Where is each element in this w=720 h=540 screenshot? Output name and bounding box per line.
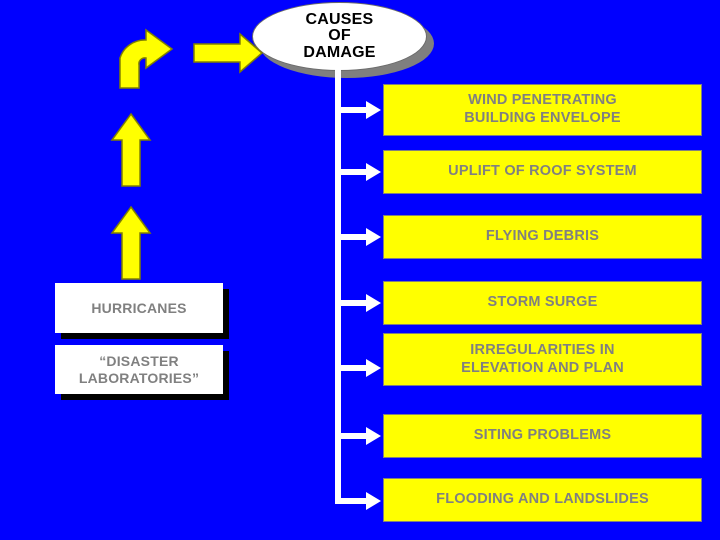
source-label-line2: LABORATORIES”: [79, 370, 199, 387]
connector-branch-5: [335, 365, 367, 371]
cause-box-label: FLOODING AND LANDSLIDES: [436, 491, 649, 509]
cause-label-line2: BUILDING ENVELOPE: [464, 110, 620, 128]
arrowhead-right-icon-4: [366, 294, 381, 312]
cause-label-line2: ELEVATION AND PLAN: [461, 360, 624, 378]
center-node-label-line3: DAMAGE: [303, 45, 375, 61]
connector-branch-3: [335, 234, 367, 240]
cause-label-line1: IRREGULARITIES IN: [461, 342, 624, 360]
connector-branch-1: [335, 107, 367, 113]
connector-branch-6: [335, 433, 367, 439]
cause-box-irregularities-in-elevation-and-plan[interactable]: IRREGULARITIES IN ELEVATION AND PLAN: [383, 333, 702, 386]
arrow-up-upper-icon: [110, 112, 152, 188]
cause-box-label: FLYING DEBRIS: [486, 228, 599, 246]
cause-label-line1: WIND PENETRATING: [464, 92, 620, 110]
cause-label-line1: UPLIFT OF ROOF SYSTEM: [448, 163, 637, 181]
cause-box-uplift-of-roof-system[interactable]: UPLIFT OF ROOF SYSTEM: [383, 150, 702, 194]
cause-box-flying-debris[interactable]: FLYING DEBRIS: [383, 215, 702, 259]
arrowhead-right-icon-1: [366, 101, 381, 119]
arrow-right-to-oval-icon: [192, 32, 264, 74]
source-label-line1: HURRICANES: [91, 300, 186, 317]
center-node-label-line2: OF: [303, 28, 375, 44]
connector-branch-4: [335, 300, 367, 306]
arrowhead-right-icon-3: [366, 228, 381, 246]
cause-box-label: WIND PENETRATING BUILDING ENVELOPE: [464, 92, 620, 127]
cause-box-label: SITING PROBLEMS: [474, 427, 612, 445]
diagram-canvas: CAUSES OF DAMAGE WIND PENETRATING BUILDI…: [0, 0, 720, 540]
source-box-disaster-laboratories[interactable]: “DISASTER LABORATORIES”: [55, 345, 223, 394]
center-node-label: CAUSES OF DAMAGE: [303, 12, 375, 61]
arrowhead-right-icon-2: [366, 163, 381, 181]
source-box-surface: HURRICANES: [55, 283, 223, 333]
arrowhead-right-icon-7: [366, 492, 381, 510]
center-node-label-line1: CAUSES: [303, 12, 375, 28]
cause-box-siting-problems[interactable]: SITING PROBLEMS: [383, 414, 702, 458]
center-node-causes-of-damage[interactable]: CAUSES OF DAMAGE: [252, 2, 434, 78]
cause-box-label: IRREGULARITIES IN ELEVATION AND PLAN: [461, 342, 624, 377]
connector-branch-7: [335, 498, 367, 504]
cause-box-flooding-and-landslides[interactable]: FLOODING AND LANDSLIDES: [383, 478, 702, 522]
source-box-surface: “DISASTER LABORATORIES”: [55, 345, 223, 394]
arrow-up-lower-icon: [110, 205, 152, 281]
cause-label-line1: SITING PROBLEMS: [474, 427, 612, 445]
cause-box-label: UPLIFT OF ROOF SYSTEM: [448, 163, 637, 181]
oval-shape: CAUSES OF DAMAGE: [252, 2, 427, 71]
arrow-elbow-up-right-icon: [108, 28, 178, 90]
cause-box-storm-surge[interactable]: STORM SURGE: [383, 281, 702, 325]
cause-box-wind-penetrating-building-envelope[interactable]: WIND PENETRATING BUILDING ENVELOPE: [383, 84, 702, 136]
cause-box-label: STORM SURGE: [488, 294, 598, 312]
arrowhead-right-icon-5: [366, 359, 381, 377]
source-box-hurricanes[interactable]: HURRICANES: [55, 283, 223, 333]
connector-branch-2: [335, 169, 367, 175]
cause-label-line1: FLOODING AND LANDSLIDES: [436, 491, 649, 509]
source-box-label: HURRICANES: [91, 300, 186, 317]
cause-label-line1: FLYING DEBRIS: [486, 228, 599, 246]
source-label-line1: “DISASTER: [79, 353, 199, 370]
source-box-label: “DISASTER LABORATORIES”: [79, 353, 199, 387]
cause-label-line1: STORM SURGE: [488, 294, 598, 312]
arrowhead-right-icon-6: [366, 427, 381, 445]
